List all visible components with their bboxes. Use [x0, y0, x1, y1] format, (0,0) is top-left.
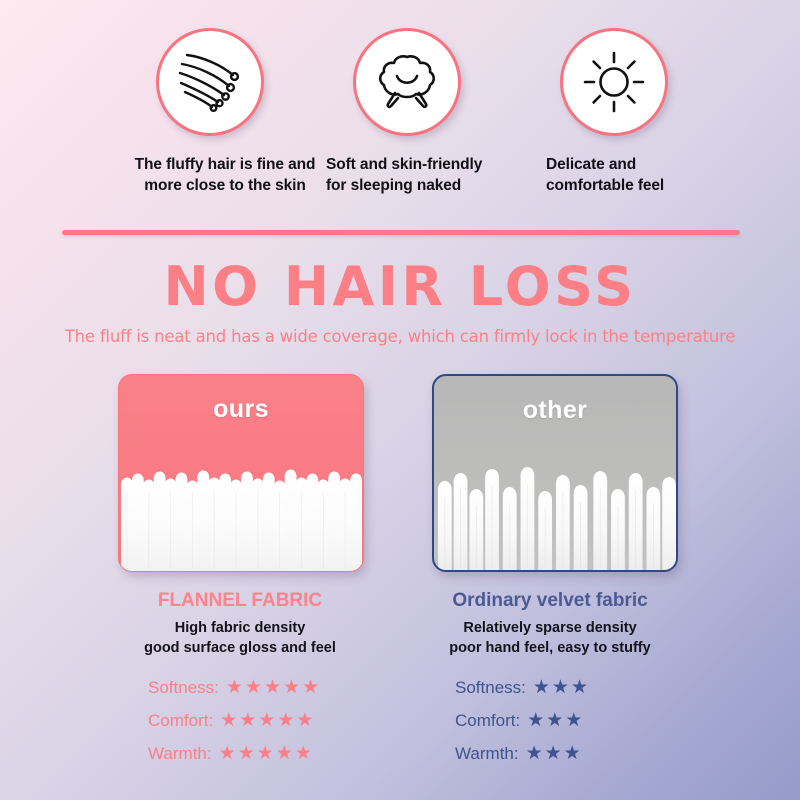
fabric-title-other: Ordinary velvet fabric: [400, 590, 700, 613]
feature-caption-line: Soft and skin-friendly: [326, 154, 548, 175]
panel-ours: ours: [118, 374, 364, 572]
rating-label-softness: Softness:: [455, 679, 526, 696]
fabric-desc-ours: High fabric density good surface gloss a…: [90, 618, 390, 658]
rating-label-softness: Softness:: [148, 679, 219, 696]
fabric-desc-line: good surface gloss and feel: [90, 638, 390, 658]
rating-stars-softness: ★★★: [533, 678, 590, 697]
infographic-page: The fluffy hair is fine and more close t…: [0, 0, 800, 800]
sun-glyph: [579, 47, 649, 117]
rating-row: Warmth: ★★★★★: [148, 738, 478, 768]
feature-caption-line: more close to the skin: [112, 175, 338, 196]
feature-caption-line: Delicate and: [546, 154, 758, 175]
feature-item-hair: The fluffy hair is fine and more close t…: [108, 28, 338, 197]
rating-label-comfort: Comfort:: [148, 712, 213, 729]
rating-row: Softness: ★★★: [455, 672, 785, 702]
feature-caption: Soft and skin-friendly for sleeping nake…: [318, 154, 548, 197]
description-ours: FLANNEL FABRIC High fabric density good …: [90, 590, 390, 658]
feature-caption: The fluffy hair is fine and more close t…: [108, 154, 338, 197]
section-divider: [62, 230, 740, 235]
rating-row: Comfort: ★★★: [455, 705, 785, 735]
page-title: NO HAIR LOSS: [0, 255, 800, 318]
sun-icon: [560, 28, 668, 136]
fabric-title-ours: FLANNEL FABRIC: [90, 590, 390, 613]
panel-other: other: [432, 374, 678, 572]
ratings-ours: Softness: ★★★★★ Comfort: ★★★★★ Warmth: ★…: [148, 672, 478, 771]
rating-row: Comfort: ★★★★★: [148, 705, 478, 735]
comparison-panels: ours: [0, 374, 800, 574]
page-subtitle: The fluff is neat and has a wide coverag…: [0, 327, 800, 346]
feature-item-soft: Soft and skin-friendly for sleeping nake…: [318, 28, 548, 197]
rating-stars-warmth: ★★★: [526, 744, 583, 763]
sparse-fiber-image: [434, 440, 676, 570]
rating-label-comfort: Comfort:: [455, 712, 520, 729]
feature-caption-line: for sleeping naked: [326, 175, 548, 196]
fabric-desc-line: poor hand feel, easy to stuffy: [400, 638, 700, 658]
fabric-desc-other: Relatively sparse density poor hand feel…: [400, 618, 700, 658]
rating-row: Warmth: ★★★: [455, 738, 785, 768]
rating-stars-warmth: ★★★★★: [219, 744, 314, 763]
ratings-other: Softness: ★★★ Comfort: ★★★ Warmth: ★★★: [455, 672, 785, 771]
cloud-fluff-glyph: [372, 47, 442, 117]
cloud-fluff-icon: [353, 28, 461, 136]
feature-item-delicate: Delicate and comfortable feel: [528, 28, 758, 197]
rating-stars-comfort: ★★★: [527, 711, 584, 730]
hair-strands-glyph: [173, 45, 247, 119]
feature-row: The fluffy hair is fine and more close t…: [0, 28, 800, 223]
comparison-descriptions: FLANNEL FABRIC High fabric density good …: [0, 590, 800, 670]
fabric-desc-line: Relatively sparse density: [400, 618, 700, 638]
feature-caption-line: The fluffy hair is fine and: [112, 154, 338, 175]
rating-label-warmth: Warmth:: [148, 745, 212, 762]
panel-label-other: other: [434, 396, 676, 425]
ratings-section: Softness: ★★★★★ Comfort: ★★★★★ Warmth: ★…: [0, 672, 800, 772]
fabric-desc-line: High fabric density: [90, 618, 390, 638]
rating-stars-softness: ★★★★★: [226, 678, 321, 697]
feature-caption: Delicate and comfortable feel: [528, 154, 758, 197]
hair-strands-icon: [156, 28, 264, 136]
dense-fiber-image: [119, 441, 363, 571]
feature-caption-line: comfortable feel: [546, 175, 758, 196]
panel-label-ours: ours: [119, 395, 363, 424]
rating-row: Softness: ★★★★★: [148, 672, 478, 702]
description-other: Ordinary velvet fabric Relatively sparse…: [400, 590, 700, 658]
rating-stars-comfort: ★★★★★: [220, 711, 315, 730]
rating-label-warmth: Warmth:: [455, 745, 519, 762]
